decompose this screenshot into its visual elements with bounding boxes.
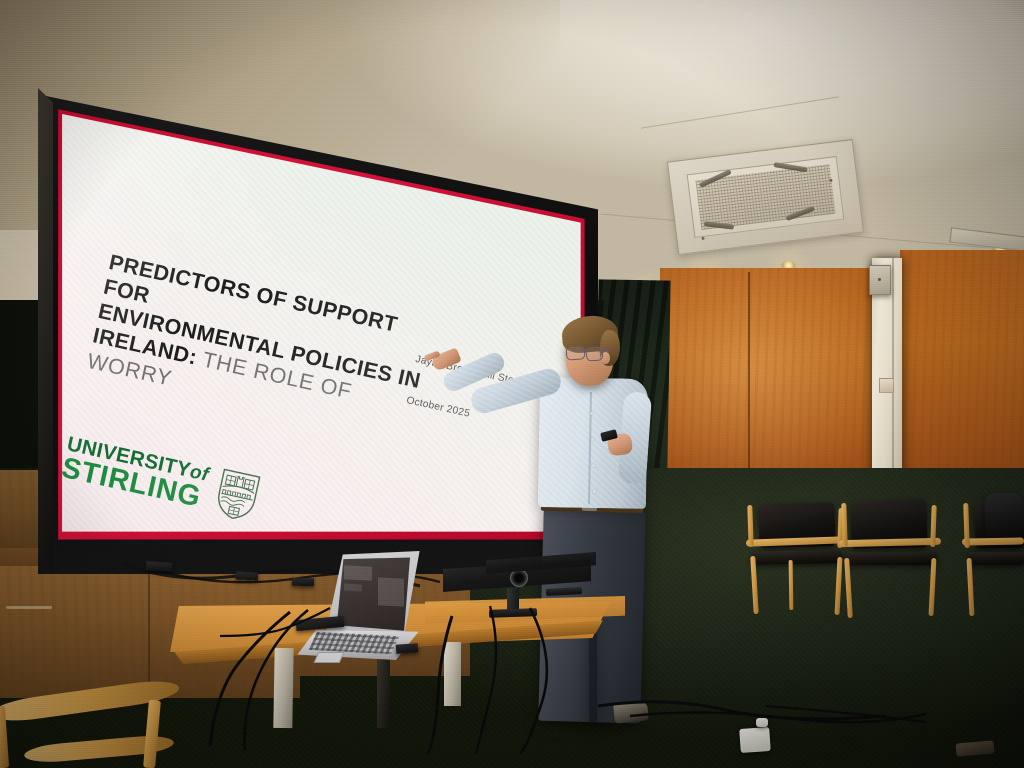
wall-speaker bbox=[869, 265, 891, 295]
av-table-leg bbox=[444, 642, 461, 706]
glasses-lens-right bbox=[586, 346, 604, 361]
shirt-button bbox=[590, 412, 593, 415]
backpack[interactable] bbox=[984, 492, 1024, 539]
power-adapter-plug bbox=[756, 718, 768, 727]
chair-leg bbox=[789, 560, 794, 610]
glasses-bridge bbox=[582, 349, 587, 351]
laptop-dongle bbox=[396, 643, 419, 654]
partition-trim bbox=[6, 606, 52, 609]
soundbar-foot bbox=[489, 608, 537, 618]
shirt-button bbox=[593, 490, 596, 493]
slide-date: October 2025 bbox=[405, 395, 471, 420]
cable-connector bbox=[236, 571, 258, 580]
power-adapter bbox=[739, 727, 771, 753]
av-table-leg bbox=[273, 648, 293, 728]
shirt-button bbox=[591, 438, 594, 441]
light-switch[interactable] bbox=[879, 378, 894, 393]
presentation-room-photo: PREDICTORS OF SUPPORT FOR ENVIRONMENTAL … bbox=[0, 0, 1024, 768]
ac-screw bbox=[701, 237, 704, 240]
slide-title: PREDICTORS OF SUPPORT FOR ENVIRONMENTAL … bbox=[85, 250, 434, 444]
laptop-window-thumb bbox=[344, 565, 372, 580]
chair-seat[interactable] bbox=[845, 552, 937, 565]
speaker-dot bbox=[878, 278, 881, 281]
glasses-temple-arm bbox=[599, 350, 609, 352]
av-table-leg bbox=[377, 648, 390, 728]
glasses-lens-left bbox=[566, 345, 586, 360]
chair-seat[interactable] bbox=[752, 550, 842, 565]
shirt-button bbox=[592, 464, 595, 467]
chair-armrest bbox=[962, 537, 1024, 545]
chair-seat[interactable] bbox=[968, 552, 1024, 565]
stirling-castle-crest-icon bbox=[212, 467, 262, 524]
university-logo: UNIVERSITYof STIRLING bbox=[59, 433, 262, 524]
university-logo-text: UNIVERSITYof STIRLING bbox=[59, 434, 211, 512]
laptop-window-thumb bbox=[344, 584, 362, 592]
cable-connector bbox=[146, 561, 173, 572]
presentation-display[interactable]: PREDICTORS OF SUPPORT FOR ENVIRONMENTAL … bbox=[38, 44, 598, 574]
laptop-window-thumb bbox=[378, 577, 404, 606]
cable-connector bbox=[292, 578, 314, 587]
presenter-shoe bbox=[613, 700, 649, 723]
laptop-trackpad[interactable] bbox=[314, 652, 345, 663]
